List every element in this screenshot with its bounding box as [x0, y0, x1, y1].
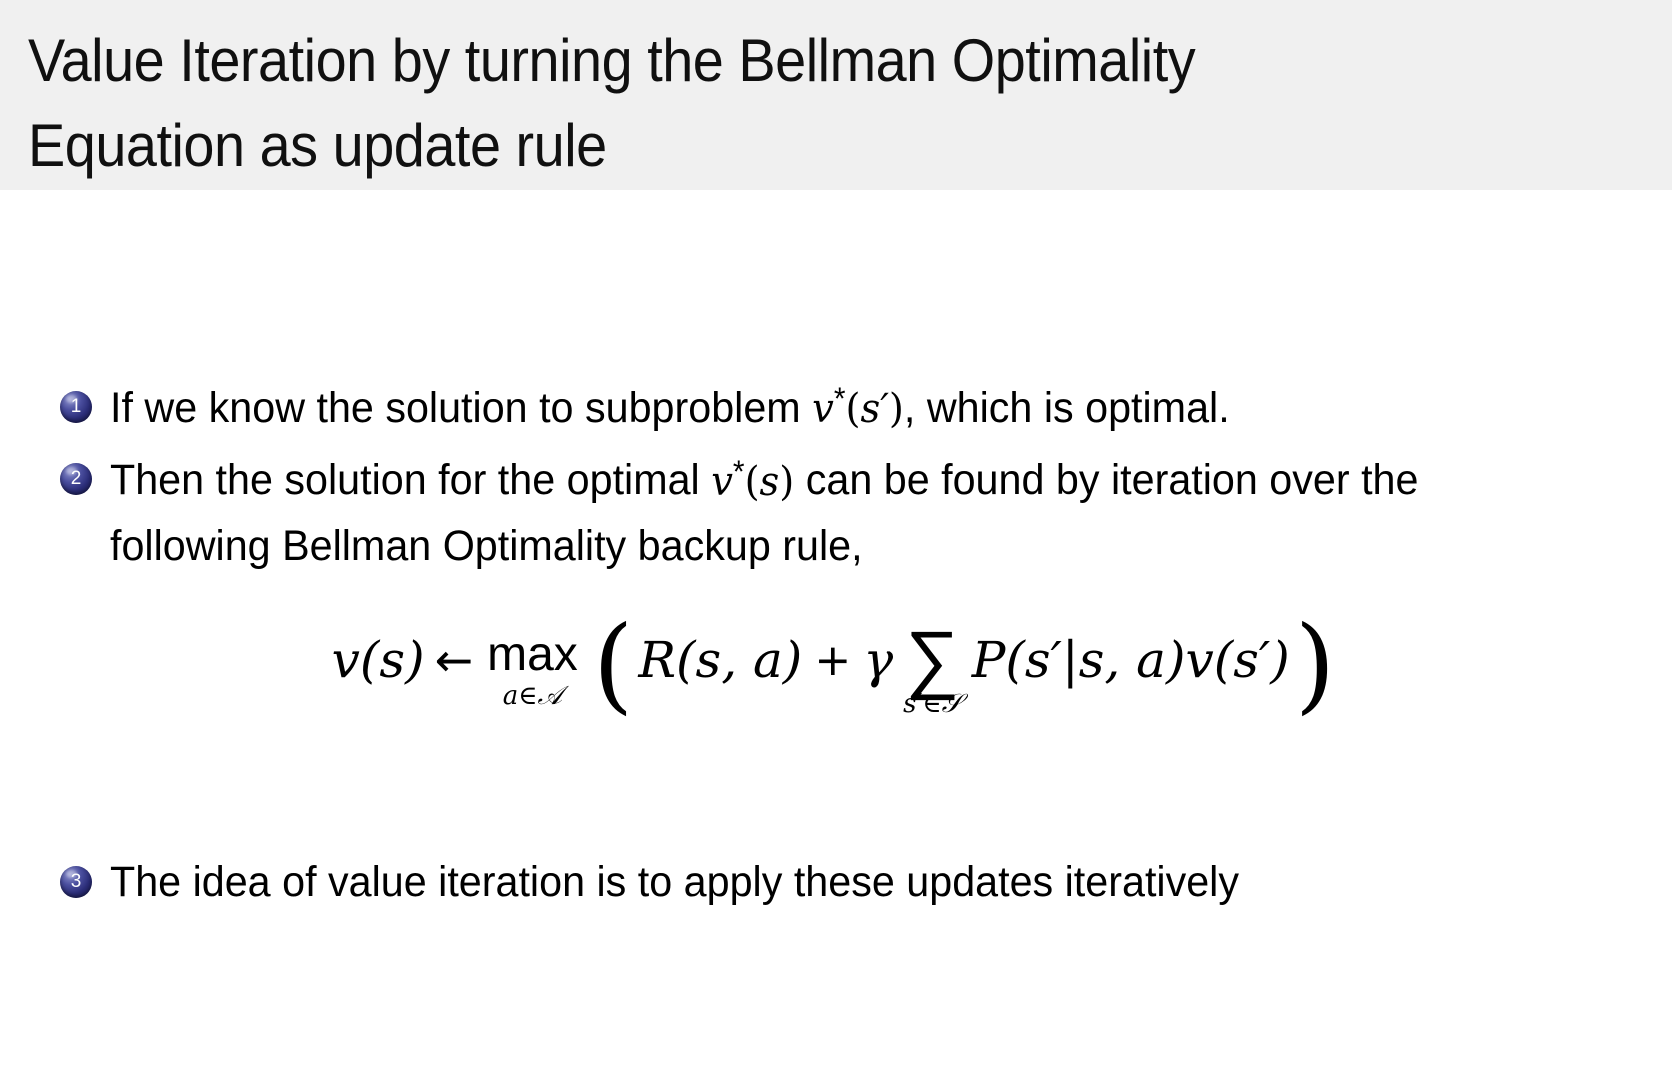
list-item-text: The idea of value iteration is to apply …: [110, 850, 1239, 915]
math-v: v: [711, 459, 733, 505]
slide-body: 1 If we know the solution to subproblem …: [0, 190, 1672, 1080]
sigma-subscript: s′∈𝒮: [903, 691, 962, 717]
bellman-optimality-backup-equation: v(s) ← max a∈𝒜 ( R(s, a) + γ ∑ s′∈𝒮 P(s′…: [332, 615, 1341, 705]
list-item-text: Then the solution for the optimal v*(s) …: [110, 447, 1560, 579]
math-star: *: [733, 453, 745, 488]
transition-probability-term: P(s′|s, a): [972, 631, 1186, 689]
math-close-paren: ): [779, 459, 794, 505]
item1-text-before: If we know the solution to subproblem: [110, 384, 812, 432]
reward-term: R(s, a): [638, 631, 802, 689]
math-arg: s: [760, 459, 780, 505]
summation-operator: ∑ s′∈𝒮: [903, 627, 962, 717]
equation-lhs: v(s): [332, 631, 425, 689]
bullet-number-2: 2: [60, 463, 92, 495]
max-operator: max a∈𝒜: [487, 631, 578, 709]
list-item: 1 If we know the solution to subproblem …: [60, 375, 1640, 441]
list-item: 2 Then the solution for the optimal v*(s…: [60, 447, 1640, 579]
item1-text-after: , which is optimal.: [904, 384, 1230, 432]
math-close-paren: ): [889, 386, 904, 432]
open-paren-large: (: [593, 632, 634, 696]
list-item-text: If we know the solution to subproblem v*…: [110, 375, 1230, 441]
page-title: Value Iteration by turning the Bellman O…: [28, 18, 1520, 188]
math-open-paren: (: [846, 386, 861, 432]
sigma-icon: ∑: [905, 627, 959, 689]
max-label: max: [487, 631, 578, 679]
bullet-number-1: 1: [60, 391, 92, 423]
item2-text-before: Then the solution for the optimal: [110, 457, 711, 505]
math-v: v: [812, 386, 834, 432]
math-star: *: [834, 381, 846, 416]
left-arrow-icon: ←: [435, 633, 474, 687]
enumerated-list: 1 If we know the solution to subproblem …: [60, 375, 1640, 585]
bullet-number-3: 3: [60, 866, 92, 898]
item2-math: v*(s): [711, 459, 794, 505]
discount-factor-gamma: γ: [863, 631, 893, 689]
next-state-value-term: v(s′): [1185, 631, 1289, 689]
max-subscript: a∈𝒜: [503, 683, 562, 709]
title-band: Value Iteration by turning the Bellman O…: [0, 0, 1672, 190]
list-item: 3 The idea of value iteration is to appl…: [60, 850, 1640, 915]
equation-block: v(s) ← max a∈𝒜 ( R(s, a) + γ ∑ s′∈𝒮 P(s′…: [0, 615, 1672, 705]
math-arg: s′: [860, 386, 888, 432]
math-open-paren: (: [745, 459, 760, 505]
item1-math: v*(s′): [812, 386, 904, 432]
close-paren-large: ): [1295, 632, 1336, 696]
plus-operator: +: [814, 635, 851, 686]
